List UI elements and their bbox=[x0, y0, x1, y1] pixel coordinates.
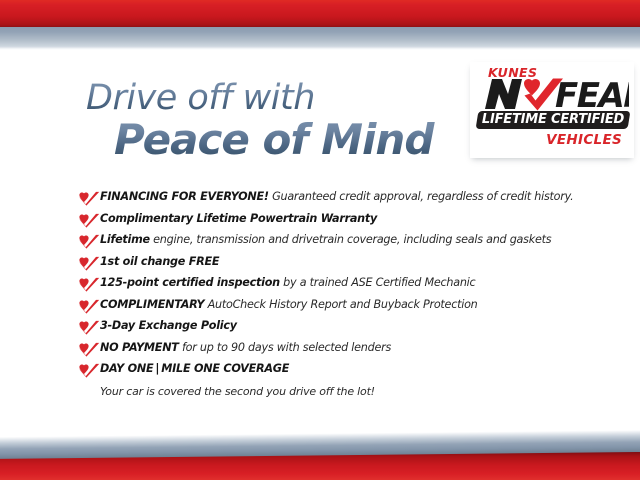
list-item: 1st oil change FREE bbox=[78, 255, 578, 271]
list-item-detail: by a trained ASE Certified Mechanic bbox=[280, 276, 476, 289]
heart-check-icon bbox=[78, 213, 100, 228]
lifetime-certified-text: LIFETIME CERTIFIED bbox=[477, 111, 629, 129]
list-item: 125-point certified inspection by a trai… bbox=[78, 276, 578, 292]
list-item: DAY ONE|MILE ONE COVERAGE bbox=[78, 362, 578, 378]
logo-vehicles-text: VEHICLES bbox=[546, 132, 622, 148]
list-item: NO PAYMENT for up to 90 days with select… bbox=[78, 341, 578, 357]
list-item: COMPLIMENTARY AutoCheck History Report a… bbox=[78, 298, 578, 314]
list-item-text: 125-point certified inspection by a trai… bbox=[100, 276, 578, 290]
list-item-text: COMPLIMENTARY AutoCheck History Report a… bbox=[100, 298, 578, 312]
list-item-emphasis-secondary: MILE ONE COVERAGE bbox=[161, 362, 289, 375]
logo-nofear-wordmark: FEAR bbox=[477, 76, 629, 112]
svg-text:FEAR: FEAR bbox=[555, 76, 629, 112]
heart-check-icon bbox=[78, 342, 100, 357]
promotional-banner: Drive off with Peace of Mind KUNES FEAR bbox=[0, 0, 640, 480]
heart-check-icon bbox=[78, 320, 100, 335]
list-item-text: FINANCING FOR EVERYONE! Guaranteed credi… bbox=[100, 190, 578, 204]
list-item-emphasis: 125-point certified inspection bbox=[100, 276, 280, 289]
list-item-emphasis: 1st oil change FREE bbox=[100, 255, 219, 268]
list-item-emphasis: NO PAYMENT bbox=[100, 341, 179, 354]
list-item-text: NO PAYMENT for up to 90 days with select… bbox=[100, 341, 578, 355]
list-item-detail: engine, transmission and drivetrain cove… bbox=[150, 233, 551, 246]
list-item-detail: for up to 90 days with selected lenders bbox=[179, 341, 391, 354]
list-item-detail: AutoCheck History Report and Buyback Pro… bbox=[204, 298, 477, 311]
list-item-text: 3-Day Exchange Policy bbox=[100, 319, 578, 333]
lifetime-certified-bar: LIFETIME CERTIFIED bbox=[476, 111, 631, 129]
list-item-emphasis: 3-Day Exchange Policy bbox=[100, 319, 237, 332]
list-item: Lifetime engine, transmission and drivet… bbox=[78, 233, 578, 249]
list-item: 3-Day Exchange Policy bbox=[78, 319, 578, 335]
list-item-text: Complimentary Lifetime Powertrain Warran… bbox=[100, 212, 578, 226]
list-item-text: Lifetime engine, transmission and drivet… bbox=[100, 233, 578, 247]
top-blue-band bbox=[0, 27, 640, 50]
kunes-no-fear-logo: KUNES FEAR LIFETIME CERTIFIED bbox=[470, 62, 634, 158]
headline-block: Drive off with Peace of Mind bbox=[86, 78, 486, 163]
list-item-subtext: Your car is covered the second you drive… bbox=[100, 384, 578, 399]
list-item-text: 1st oil change FREE bbox=[100, 255, 578, 269]
list-item-emphasis: COMPLIMENTARY bbox=[100, 298, 204, 311]
top-red-band bbox=[0, 0, 640, 27]
heart-check-icon bbox=[78, 191, 100, 206]
benefits-list: FINANCING FOR EVERYONE! Guaranteed credi… bbox=[78, 190, 578, 399]
list-item-emphasis: Complimentary Lifetime Powertrain Warran… bbox=[100, 212, 377, 225]
list-item: FINANCING FOR EVERYONE! Guaranteed credi… bbox=[78, 190, 578, 206]
heart-check-icon bbox=[78, 256, 100, 271]
list-item-text: DAY ONE|MILE ONE COVERAGE bbox=[100, 362, 578, 376]
list-item-detail: Guaranteed credit approval, regardless o… bbox=[269, 190, 574, 203]
headline-line-1: Drive off with bbox=[86, 78, 486, 118]
heart-check-icon bbox=[78, 363, 100, 378]
list-item: Complimentary Lifetime Powertrain Warran… bbox=[78, 212, 578, 228]
list-item-emphasis: FINANCING FOR EVERYONE! bbox=[100, 190, 269, 203]
list-item-emphasis: DAY ONE bbox=[100, 362, 153, 375]
heart-check-icon bbox=[78, 234, 100, 249]
headline-line-2: Peace of Mind bbox=[114, 116, 486, 163]
heart-check-icon bbox=[78, 299, 100, 314]
heart-check-icon bbox=[78, 277, 100, 292]
list-item-emphasis: Lifetime bbox=[100, 233, 150, 246]
